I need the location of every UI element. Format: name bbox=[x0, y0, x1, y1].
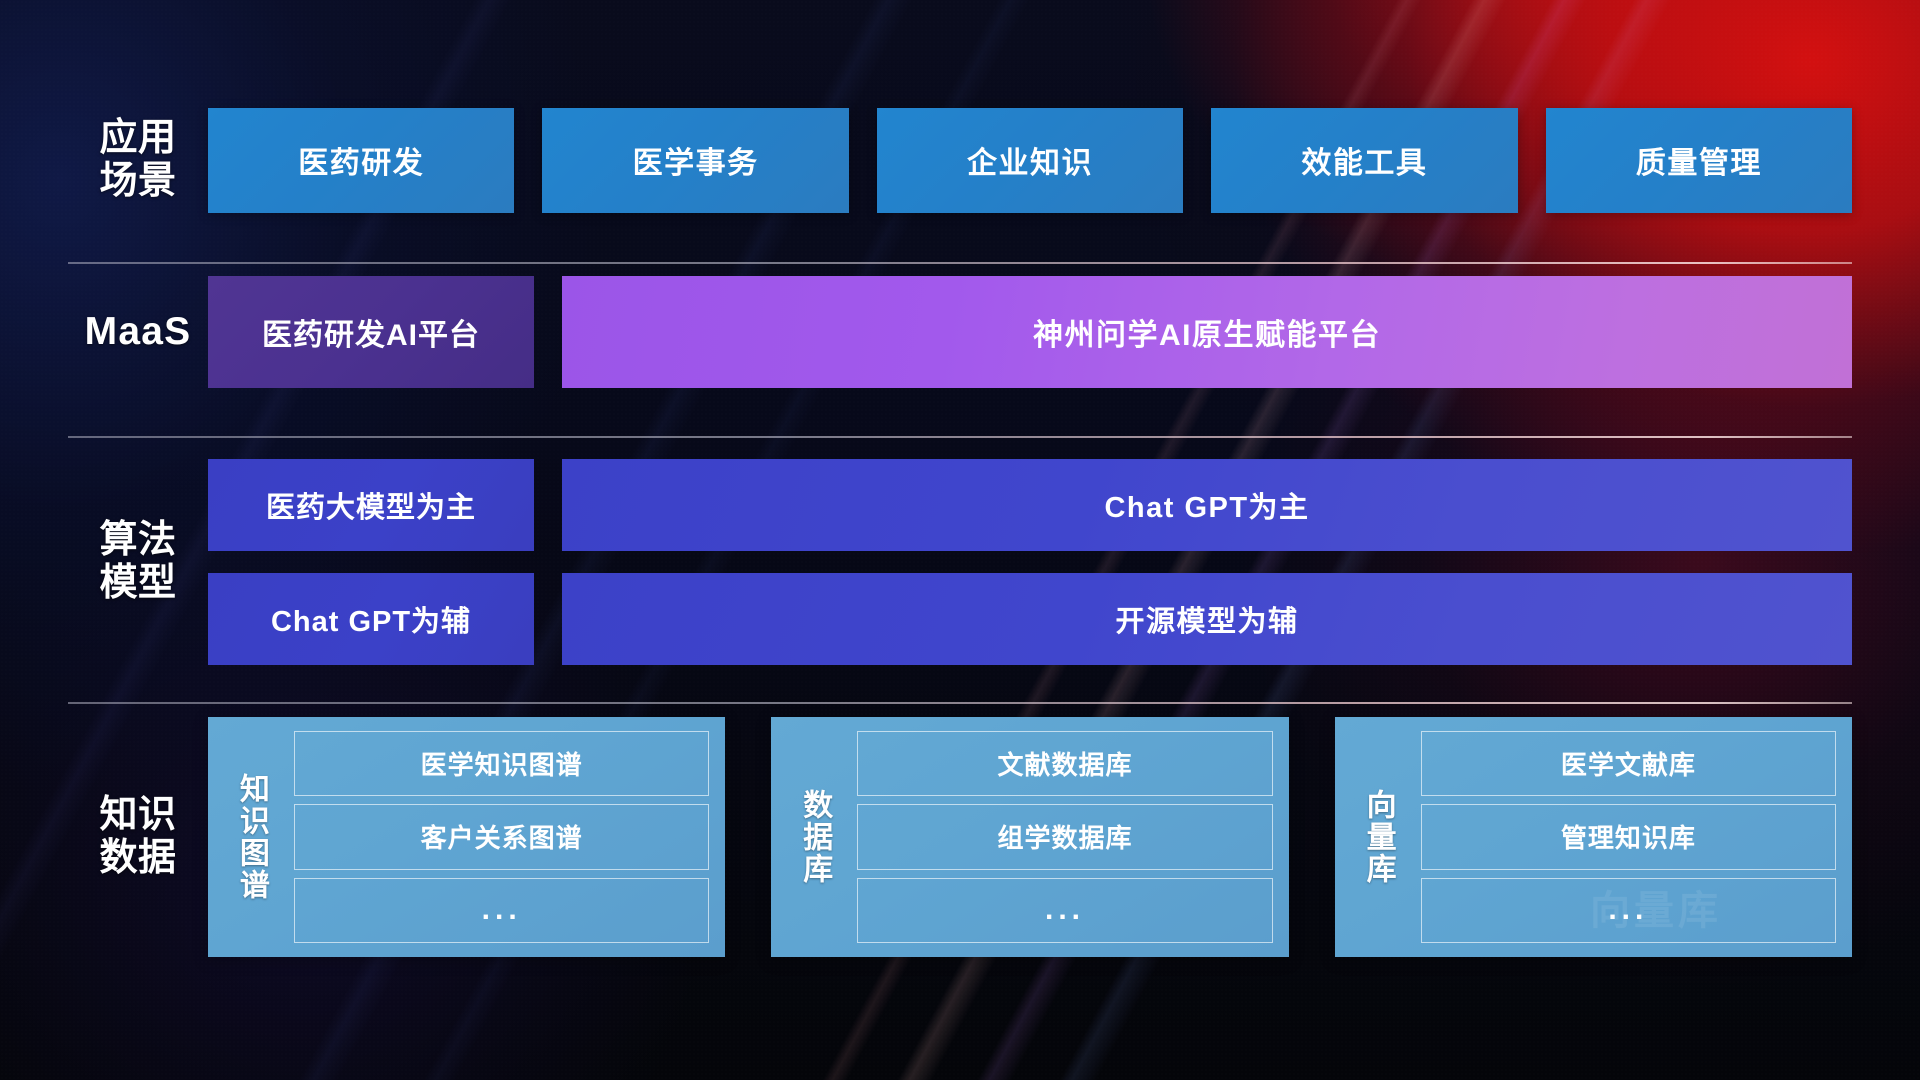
knowledge-item-medical-literature-store[interactable]: 医学文献库 bbox=[1421, 731, 1836, 796]
algo-box-label: Chat GPT为主 bbox=[1104, 484, 1309, 526]
app-box-enterprise-knowledge[interactable]: 企业知识 bbox=[877, 108, 1183, 213]
knowledge-item-label: ... bbox=[482, 893, 522, 927]
algorithm-row-secondary: Chat GPT为辅 开源模型为辅 bbox=[208, 573, 1852, 665]
app-box-label: 医药研发 bbox=[298, 138, 424, 182]
knowledge-group-items: 医学知识图谱 客户关系图谱 ... bbox=[294, 731, 709, 943]
knowledge-item-medical-knowledge-graph[interactable]: 医学知识图谱 bbox=[294, 731, 709, 796]
knowledge-item-label: 文献数据库 bbox=[997, 745, 1132, 782]
app-box-efficiency-tools[interactable]: 效能工具 bbox=[1211, 108, 1517, 213]
knowledge-group-vector-store[interactable]: 向量库 医学文献库 管理知识库 ... bbox=[1335, 717, 1852, 957]
knowledge-item-label: 客户关系图谱 bbox=[421, 818, 583, 855]
algorithm-row-primary: 医药大模型为主 Chat GPT为主 bbox=[208, 459, 1852, 551]
knowledge-item-label: 管理知识库 bbox=[1561, 818, 1696, 855]
divider-1 bbox=[68, 262, 1852, 264]
algo-box-chatgpt-primary[interactable]: Chat GPT为主 bbox=[562, 459, 1852, 551]
knowledge-item-management-knowledge-store[interactable]: 管理知识库 bbox=[1421, 804, 1836, 869]
knowledge-group-title: 数据库 bbox=[785, 731, 843, 943]
algorithm-model-grid: 医药大模型为主 Chat GPT为主 Chat GPT为辅 开源模型为辅 bbox=[208, 459, 1852, 665]
row-algorithm-models: 算法 模型 医药大模型为主 Chat GPT为主 Chat GPT为辅 开源模型… bbox=[68, 448, 1852, 676]
algo-box-label: Chat GPT为辅 bbox=[271, 598, 471, 640]
app-box-label: 医学事务 bbox=[633, 138, 759, 182]
divider-3 bbox=[68, 702, 1852, 704]
maas-platform-list: 医药研发AI平台 神州问学AI原生赋能平台 bbox=[208, 276, 1852, 388]
knowledge-item-literature-database[interactable]: 文献数据库 bbox=[857, 731, 1272, 796]
knowledge-group-items: 文献数据库 组学数据库 ... bbox=[857, 731, 1272, 943]
algo-box-pharma-llm-primary[interactable]: 医药大模型为主 bbox=[208, 459, 534, 551]
row-label-knowledge-data: 知识 数据 bbox=[68, 794, 208, 879]
knowledge-item-label: ... bbox=[1045, 893, 1085, 927]
divider-2 bbox=[68, 436, 1852, 438]
knowledge-group-items: 医学文献库 管理知识库 ... bbox=[1421, 731, 1836, 943]
slide-canvas: 应用 场景 医药研发 医学事务 企业知识 效能工具 质量管理 MaaS 医药研发… bbox=[0, 0, 1920, 1080]
knowledge-item-label: 组学数据库 bbox=[997, 818, 1132, 855]
algo-box-label: 开源模型为辅 bbox=[1115, 598, 1298, 640]
maas-box-label: 神州问学AI原生赋能平台 bbox=[1033, 310, 1381, 354]
app-box-pharma-rnd[interactable]: 医药研发 bbox=[208, 108, 514, 213]
knowledge-item-more[interactable]: ... bbox=[294, 878, 709, 943]
knowledge-item-more[interactable]: ... bbox=[857, 878, 1272, 943]
knowledge-group-knowledge-graph[interactable]: 知识图谱 医学知识图谱 客户关系图谱 ... bbox=[208, 717, 725, 957]
row-application-scenarios: 应用 场景 医药研发 医学事务 企业知识 效能工具 质量管理 bbox=[68, 100, 1852, 220]
row-label-maas: MaaS bbox=[68, 310, 208, 354]
row-maas: MaaS 医药研发AI平台 神州问学AI原生赋能平台 bbox=[68, 272, 1852, 392]
app-box-medical-affairs[interactable]: 医学事务 bbox=[542, 108, 848, 213]
maas-box-shenzhou-wenxue-platform[interactable]: 神州问学AI原生赋能平台 bbox=[562, 276, 1852, 388]
maas-box-label: 医药研发AI平台 bbox=[262, 310, 480, 354]
app-box-label: 企业知识 bbox=[967, 138, 1093, 182]
row-knowledge-data: 知识 数据 知识图谱 医学知识图谱 客户关系图谱 ... 数据库 bbox=[68, 712, 1852, 962]
knowledge-item-more[interactable]: ... bbox=[1421, 878, 1836, 943]
row-label-algorithm-models: 算法 模型 bbox=[68, 519, 208, 604]
algo-box-label: 医药大模型为主 bbox=[266, 484, 476, 526]
algo-box-opensource-secondary[interactable]: 开源模型为辅 bbox=[562, 573, 1852, 665]
knowledge-group-title: 向量库 bbox=[1349, 731, 1407, 943]
knowledge-item-label: ... bbox=[1608, 893, 1648, 927]
knowledge-group-title: 知识图谱 bbox=[222, 731, 280, 943]
architecture-stack: 应用 场景 医药研发 医学事务 企业知识 效能工具 质量管理 MaaS 医药研发… bbox=[0, 0, 1920, 1080]
knowledge-item-label: 医学知识图谱 bbox=[421, 745, 583, 782]
knowledge-item-label: 医学文献库 bbox=[1561, 745, 1696, 782]
app-box-label: 质量管理 bbox=[1636, 138, 1762, 182]
knowledge-group-list: 知识图谱 医学知识图谱 客户关系图谱 ... 数据库 文献数据库 组学数据库 .… bbox=[208, 717, 1852, 957]
application-scenario-list: 医药研发 医学事务 企业知识 效能工具 质量管理 bbox=[208, 108, 1852, 213]
app-box-quality-management[interactable]: 质量管理 bbox=[1546, 108, 1852, 213]
knowledge-item-omics-database[interactable]: 组学数据库 bbox=[857, 804, 1272, 869]
maas-box-pharma-ai-platform[interactable]: 医药研发AI平台 bbox=[208, 276, 534, 388]
row-label-application-scenarios: 应用 场景 bbox=[68, 117, 208, 202]
knowledge-group-database[interactable]: 数据库 文献数据库 组学数据库 ... bbox=[771, 717, 1288, 957]
knowledge-item-customer-relation-graph[interactable]: 客户关系图谱 bbox=[294, 804, 709, 869]
app-box-label: 效能工具 bbox=[1301, 138, 1427, 182]
algo-box-chatgpt-secondary[interactable]: Chat GPT为辅 bbox=[208, 573, 534, 665]
